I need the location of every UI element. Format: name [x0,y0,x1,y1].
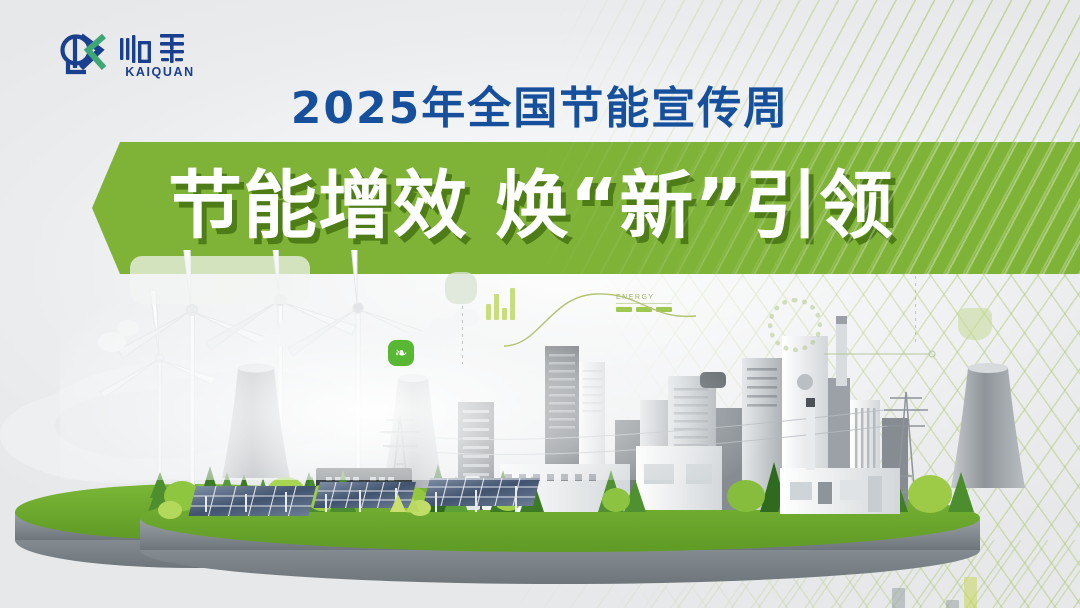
leaf-chip-icon[interactable]: ❧ [388,340,414,366]
chart-bar [892,588,905,608]
chart-bar [964,577,977,608]
floating-card-large [130,256,310,304]
shield-chip-icon [958,308,992,340]
background-bar-chart [856,568,1031,608]
flowing-curve [500,276,700,356]
illustration-scene: ❧ ENERGY [0,250,1080,608]
floating-card-small [445,272,477,304]
banner-area-stripes [540,138,1080,278]
dotted-connector-left [462,306,463,364]
chart-bar [946,600,959,608]
ring-dots-icon [768,298,822,352]
connector-line-right [820,330,946,376]
page-title: 2025年全国节能宣传周 [0,72,1080,136]
poster-canvas: KAIQUAN 2025年全国节能宣传周 节能增效 焕“新”引领 [0,0,1080,608]
